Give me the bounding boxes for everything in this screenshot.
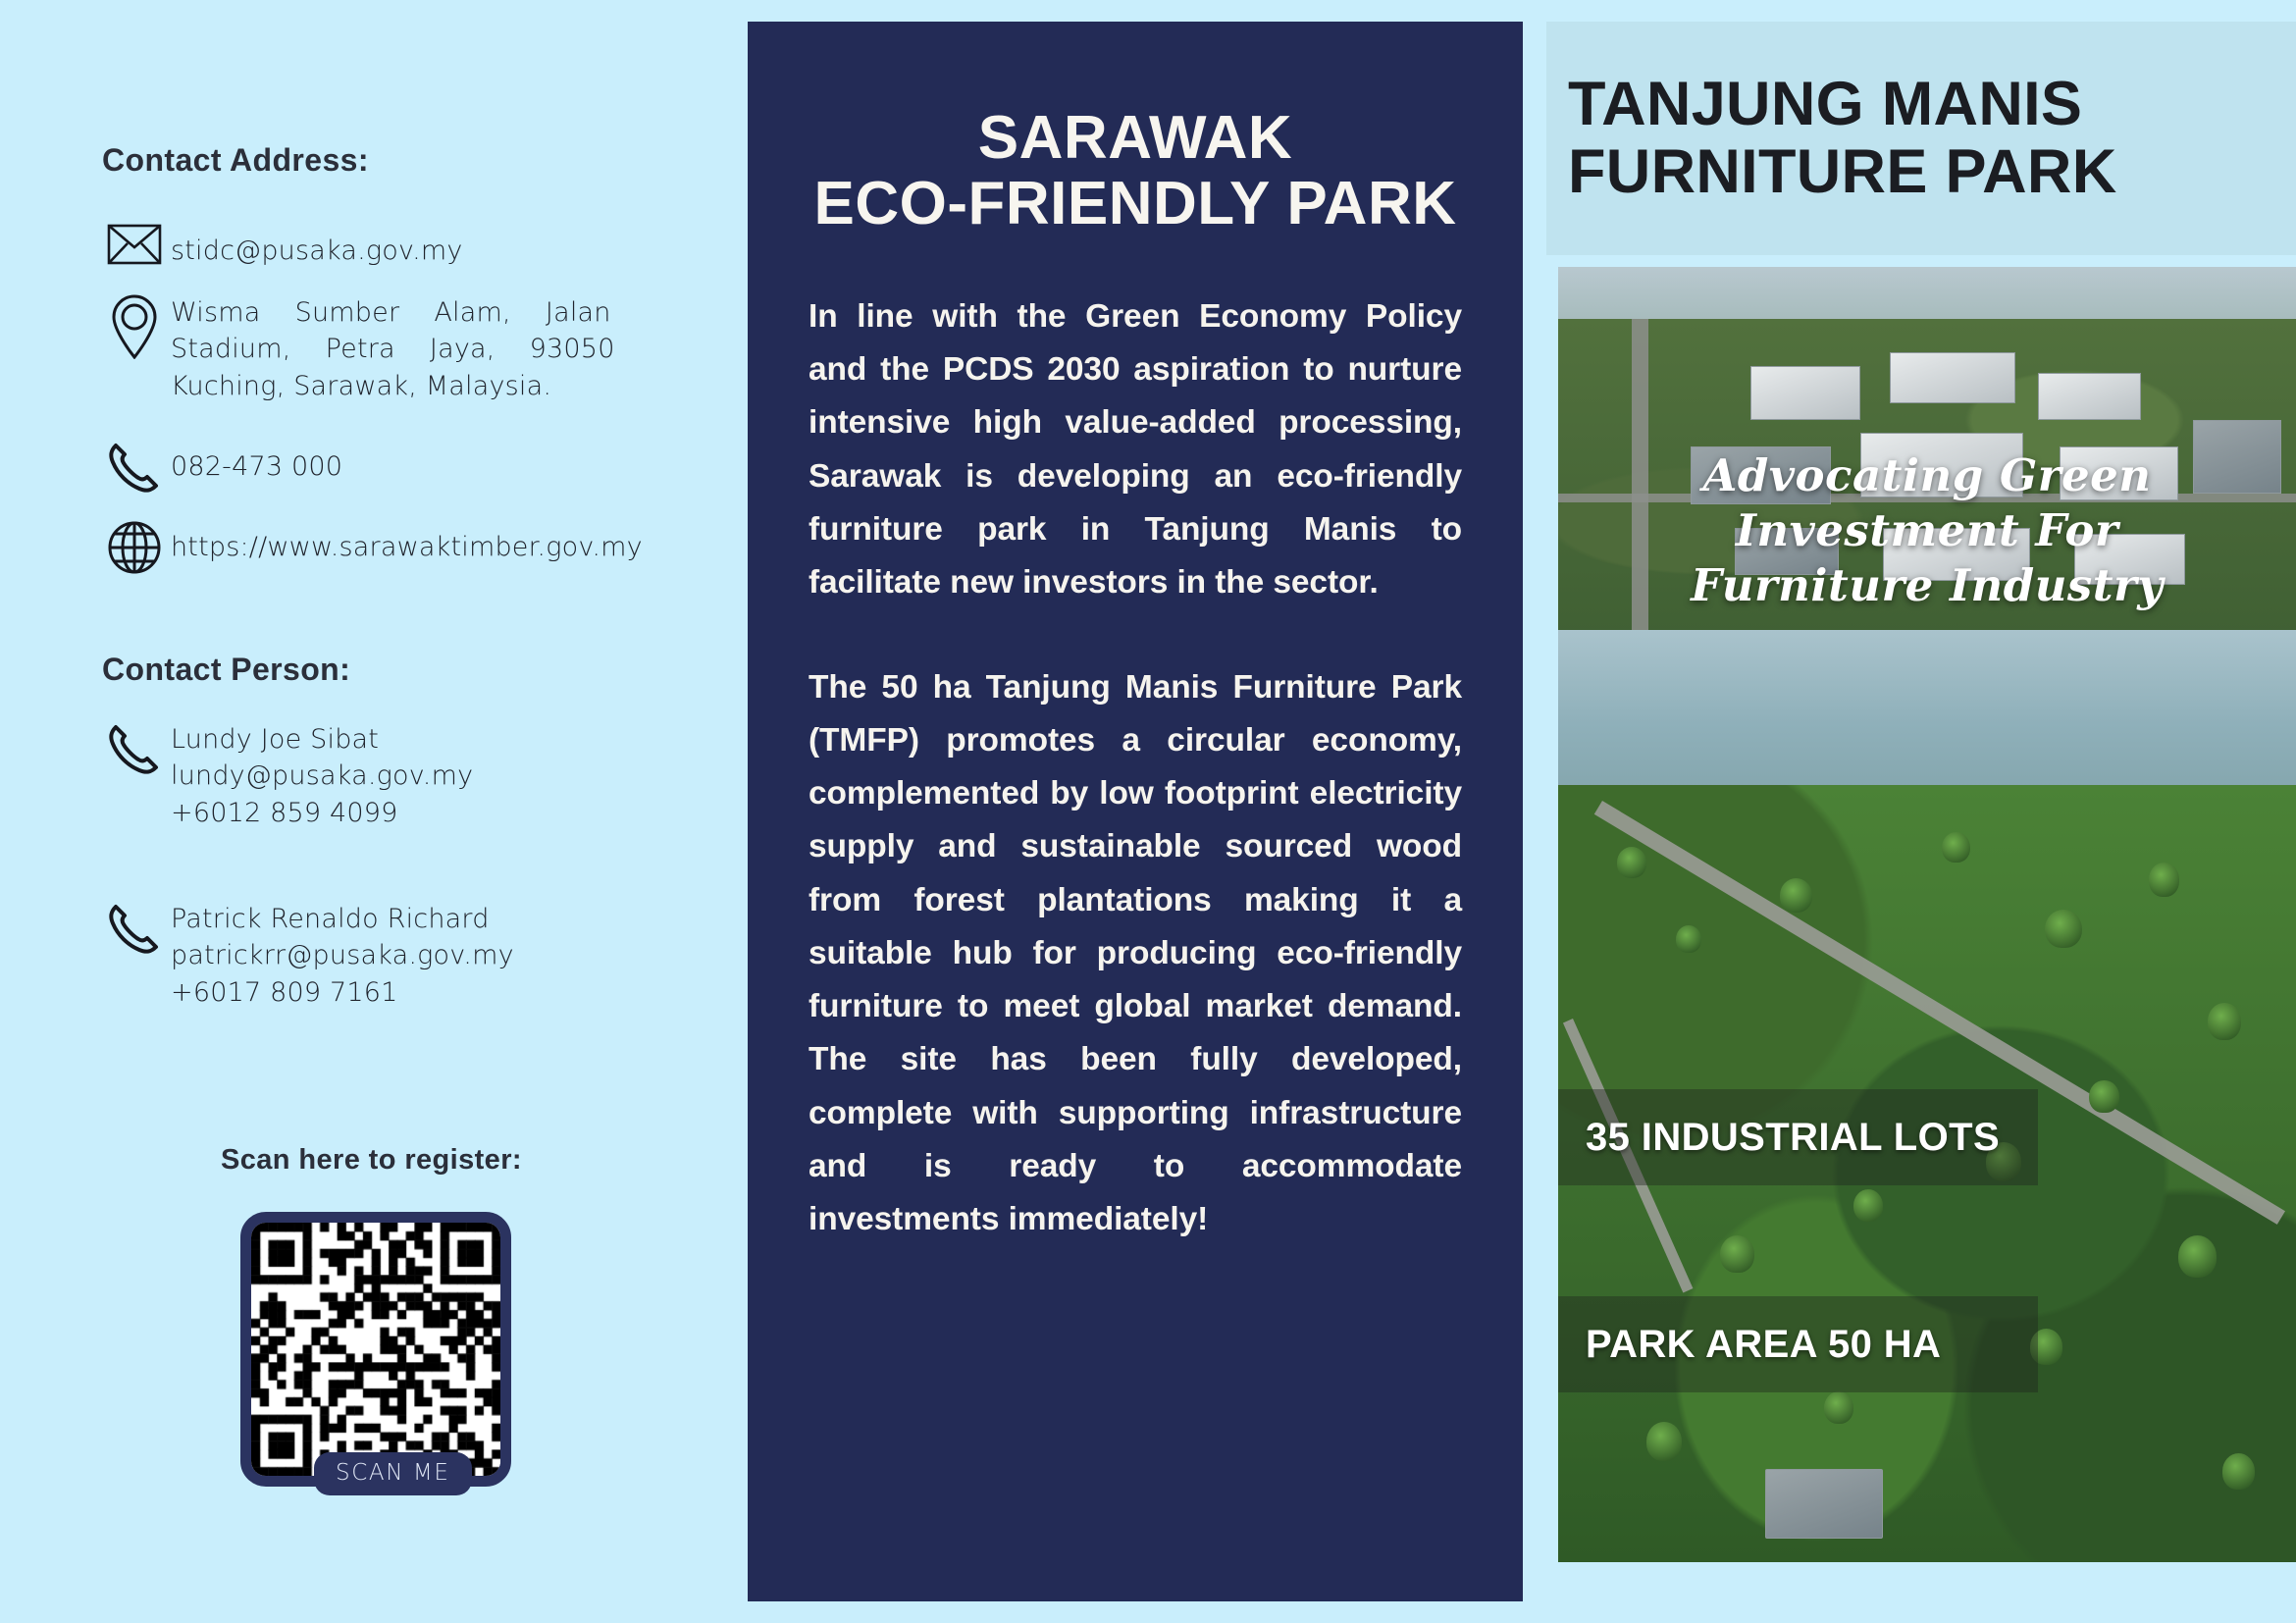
address-line-1: Wisma Sumber Alam, Jalan xyxy=(171,294,615,331)
aerial-photo: Advocating Green Investment For Furnitur… xyxy=(1558,267,2296,1562)
stat-industrial-lots: 35 INDUSTRIAL LOTS xyxy=(1558,1089,2038,1185)
right-title-line-1: TANJUNG MANIS xyxy=(1568,70,2082,138)
center-title: SARAWAK ECO-FRIENDLY PARK xyxy=(809,106,1462,237)
brochure: Contact Address: stidc@pusaka.gov.my xyxy=(0,0,2296,1623)
right-title-line-2: FURNITURE PARK xyxy=(1568,138,2296,206)
right-panel: TANJUNG MANIS FURNITURE PARK xyxy=(1546,0,2296,1623)
right-title: TANJUNG MANIS FURNITURE PARK xyxy=(1568,71,2296,207)
photo-caption: Advocating Green Investment For Furnitur… xyxy=(1558,448,2296,614)
contact-address-value: Wisma Sumber Alam, Jalan Stadium, Petra … xyxy=(171,294,615,404)
photo-caption-line-1: Advocating Green Investment For xyxy=(1703,449,2152,556)
qr-code-canvas xyxy=(251,1223,500,1476)
stat-park-area: PARK AREA 50 HA xyxy=(1558,1296,2038,1392)
phone-icon xyxy=(98,440,171,495)
contact-person-heading: Contact Person: xyxy=(102,652,350,688)
person-email[interactable]: lundy@pusaka.gov.my xyxy=(171,758,473,794)
scan-me-badge: SCAN ME xyxy=(314,1452,472,1495)
map-pin-icon xyxy=(98,294,171,359)
contact-phone-row: 082-473 000 xyxy=(98,440,342,495)
center-title-line-2: ECO-FRIENDLY PARK xyxy=(809,172,1462,237)
contact-address-heading: Contact Address: xyxy=(102,142,369,179)
scan-here-heading: Scan here to register: xyxy=(221,1144,522,1177)
person-mobile[interactable]: +6012 859 4099 xyxy=(171,795,473,831)
contact-website-value[interactable]: https://www.sarawaktimber.gov.my xyxy=(171,520,643,565)
center-paragraph-2: The 50 ha Tanjung Manis Furniture Park (… xyxy=(809,661,1462,1247)
envelope-icon xyxy=(98,224,171,265)
qr-code[interactable] xyxy=(240,1212,511,1487)
person-email[interactable]: patrickrr@pusaka.gov.my xyxy=(171,937,514,973)
right-header: TANJUNG MANIS FURNITURE PARK xyxy=(1546,22,2296,255)
left-panel: Contact Address: stidc@pusaka.gov.my xyxy=(0,0,748,1623)
phone-icon xyxy=(98,721,171,776)
contact-phone-value[interactable]: 082-473 000 xyxy=(171,440,342,485)
center-paragraph-1: In line with the Green Economy Policy an… xyxy=(809,290,1462,610)
center-panel: SARAWAK ECO-FRIENDLY PARK In line with t… xyxy=(748,22,1523,1601)
person-name: Patrick Renaldo Richard xyxy=(171,901,514,937)
address-line-3: Kuching, Sarawak, Malaysia. xyxy=(171,368,615,404)
address-line-2: Stadium, Petra Jaya, 93050 xyxy=(171,331,615,367)
person-mobile[interactable]: +6017 809 7161 xyxy=(171,974,514,1011)
contact-address-row: Wisma Sumber Alam, Jalan Stadium, Petra … xyxy=(98,294,615,404)
phone-icon xyxy=(98,901,171,956)
contact-email-row: stidc@pusaka.gov.my xyxy=(98,224,463,269)
contact-email-value[interactable]: stidc@pusaka.gov.my xyxy=(171,224,463,269)
globe-icon xyxy=(98,520,171,575)
center-title-line-1: SARAWAK xyxy=(978,104,1292,172)
photo-caption-line-2: Furniture Industry xyxy=(1558,558,2296,613)
contact-person-details: Patrick Renaldo Richard patrickrr@pusaka… xyxy=(171,901,514,1011)
contact-person-details: Lundy Joe Sibat lundy@pusaka.gov.my +601… xyxy=(171,721,473,831)
contact-person-row: Patrick Renaldo Richard patrickrr@pusaka… xyxy=(98,901,514,1011)
contact-person-row: Lundy Joe Sibat lundy@pusaka.gov.my +601… xyxy=(98,721,473,831)
contact-website-row: https://www.sarawaktimber.gov.my xyxy=(98,520,643,575)
person-name: Lundy Joe Sibat xyxy=(171,721,473,758)
